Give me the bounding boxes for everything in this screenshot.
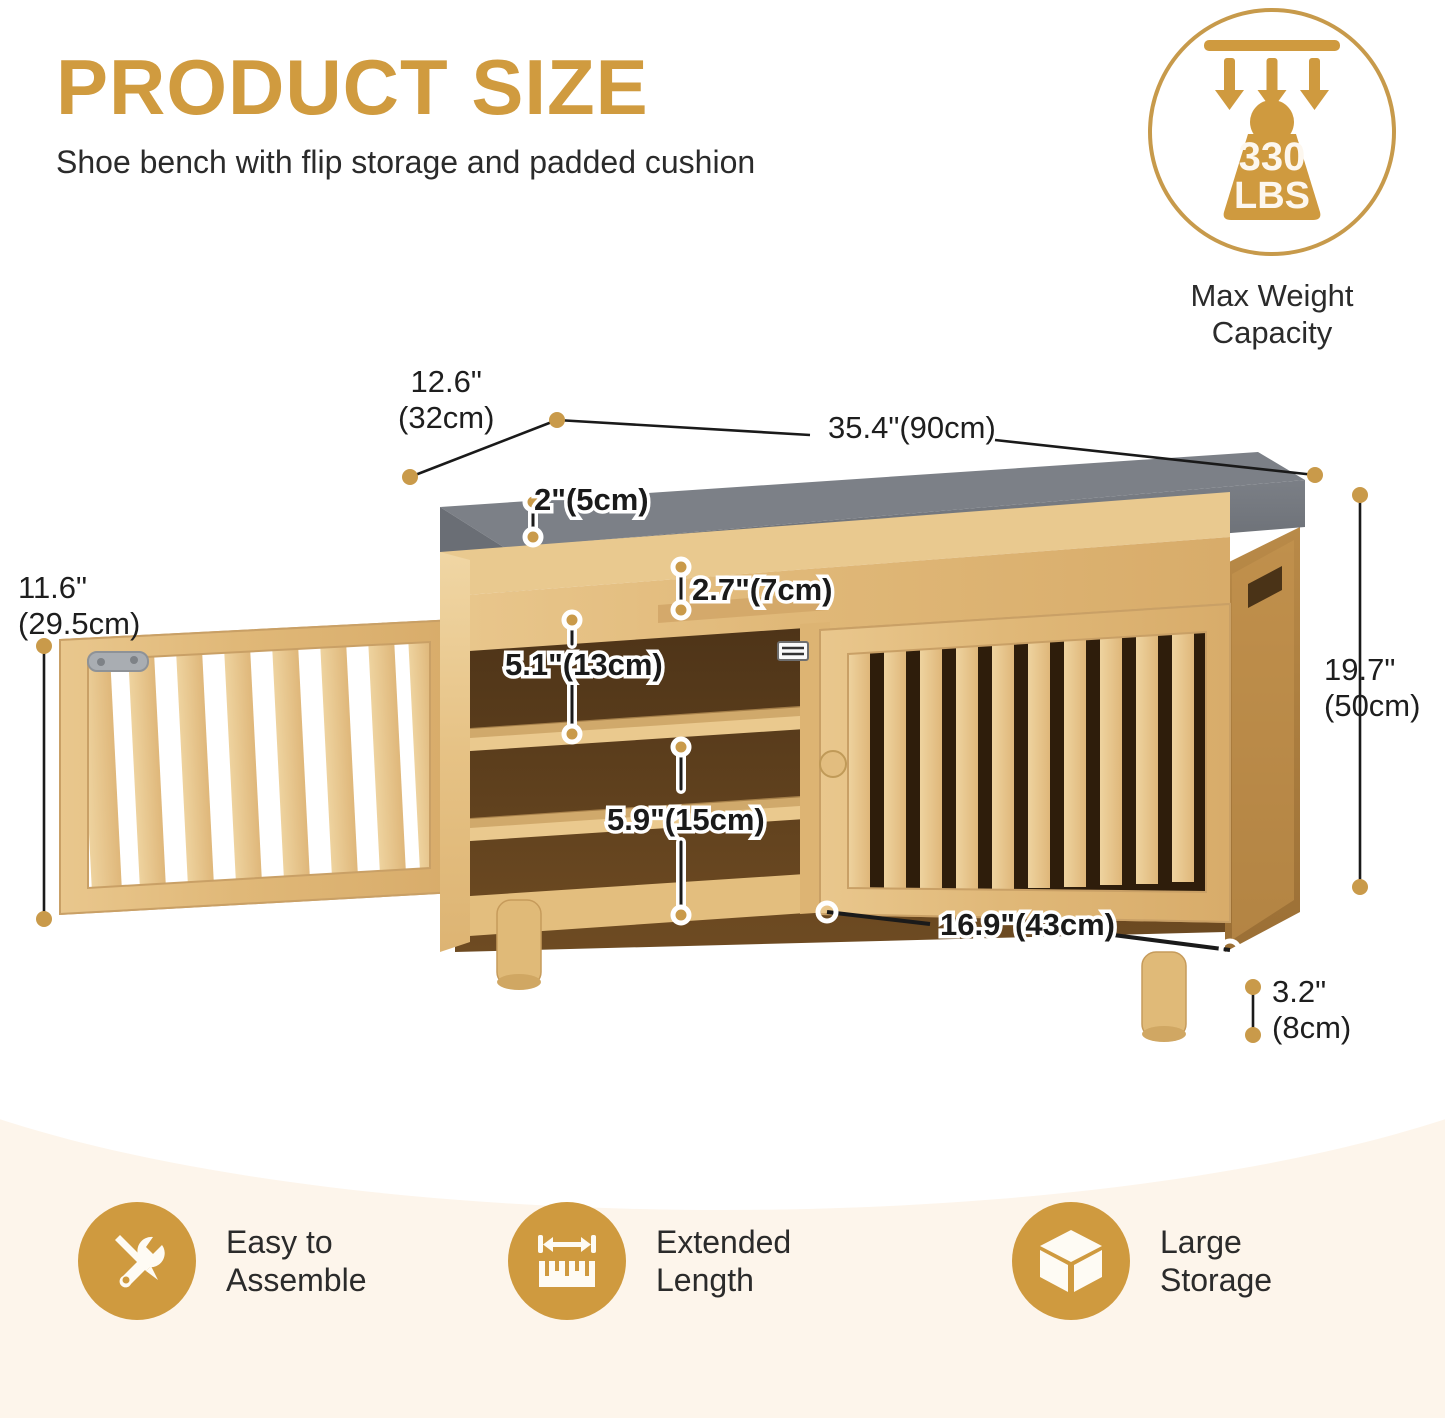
weight-caption-line2: Capacity <box>1122 315 1422 352</box>
feature-easy-to-assemble: Easy to Assemble <box>0 1202 500 1320</box>
latch-plate <box>778 642 808 660</box>
dim-label-leg-height: 3.2" (8cm) <box>1272 974 1351 1046</box>
panel-top-curve <box>0 1062 1445 1210</box>
features-panel: Easy to Assemble <box>0 1062 1445 1418</box>
cabinet-body <box>440 452 1305 1042</box>
door-knob <box>820 751 846 777</box>
feature-label-extended-length: Extended Length <box>656 1223 791 1300</box>
feature-label-easy-to-assemble: Easy to Assemble <box>226 1223 367 1300</box>
open-door-panel <box>60 620 455 914</box>
feature-label-large-storage: Large Storage <box>1160 1223 1272 1300</box>
weight-caption-line1: Max Weight <box>1122 278 1422 315</box>
weight-badge-caption: Max Weight Capacity <box>1122 278 1422 351</box>
weight-load-icon: 330 LBS <box>1152 12 1392 252</box>
dim-label-lower-shelf: 5.9"(15cm) <box>607 802 765 838</box>
header: PRODUCT SIZE Shoe bench with flip storag… <box>56 48 755 181</box>
feature-large-storage: Large Storage <box>990 1202 1445 1320</box>
page-subtitle: Shoe bench with flip storage and padded … <box>56 144 755 181</box>
weight-value-text: 330 <box>1239 135 1306 179</box>
wrench-screwdriver-icon <box>78 1202 196 1320</box>
page-title: PRODUCT SIZE <box>56 48 755 126</box>
feature-extended-length: Extended Length <box>500 1202 990 1320</box>
dim-label-door-height: 11.6" (29.5cm) <box>18 570 140 642</box>
dim-label-drawer-height: 2.7"(7cm) <box>692 572 832 608</box>
dim-label-cushion-height: 2"(5cm) <box>534 482 649 518</box>
dim-label-door-width: 16.9"(43cm) <box>940 907 1115 943</box>
dim-label-depth: 12.6" (32cm) <box>398 364 494 436</box>
max-weight-badge: 330 LBS 330 LBS Max Weight Capacity <box>1122 8 1422 351</box>
dim-label-width: 35.4"(90cm) <box>828 410 996 446</box>
weight-badge-circle: 330 LBS 330 LBS <box>1148 8 1396 256</box>
product-size-infographic: PRODUCT SIZE Shoe bench with flip storag… <box>0 0 1445 1418</box>
ruler-arrow-icon <box>508 1202 626 1320</box>
open-box-icon <box>1012 1202 1130 1320</box>
features-row: Easy to Assemble <box>0 1202 1445 1320</box>
dimline-width-left <box>557 420 810 435</box>
dim-label-upper-shelf: 5.1"(13cm) <box>505 647 663 683</box>
weight-unit-text: LBS <box>1234 175 1310 217</box>
slatted-door <box>820 604 1230 922</box>
product-illustration: 12.6" (32cm) 35.4"(90cm) 2"(5cm) 2.7"(7c… <box>0 352 1445 1062</box>
hinge-plate <box>88 652 148 671</box>
dim-label-total-height: 19.7" (50cm) <box>1324 652 1420 724</box>
